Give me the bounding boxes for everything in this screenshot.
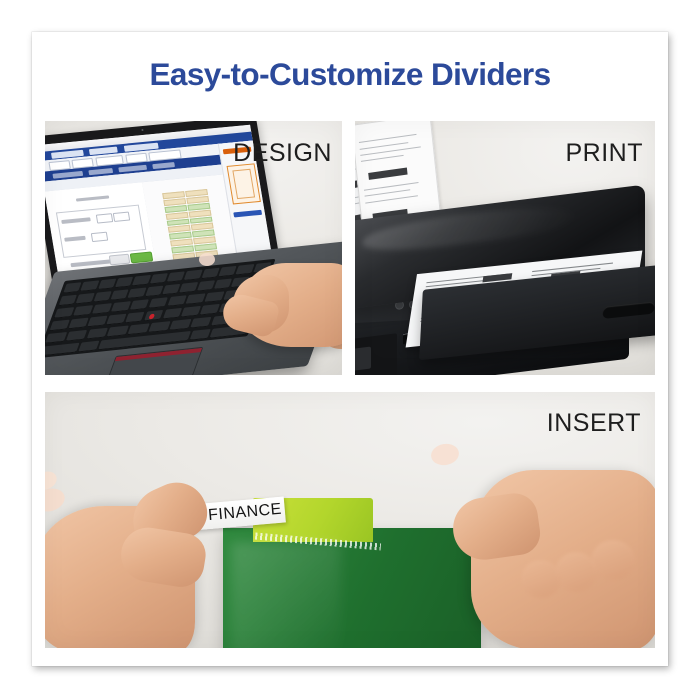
panel-label-insert: INSERT <box>547 409 641 438</box>
nav-item[interactable] <box>88 168 112 175</box>
rail-chip-blue[interactable] <box>233 210 261 218</box>
panel-heading-placeholder <box>75 195 109 201</box>
laptop-touchpad[interactable] <box>105 347 203 375</box>
touchpad-button-bar[interactable] <box>115 348 202 361</box>
rail-thumbnail-inner <box>232 169 255 199</box>
panel-label-design: DESIGN <box>233 139 332 168</box>
panel-insert: FINANCE INSERT <box>45 392 655 648</box>
form-input[interactable] <box>96 213 113 223</box>
fingernail <box>199 253 215 266</box>
tray-handle[interactable] <box>602 301 655 319</box>
product-card: Easy-to-Customize Dividers <box>32 32 668 666</box>
panel-design: DESIGN <box>45 121 342 375</box>
form-input[interactable] <box>91 232 108 242</box>
left-hand-thumb-nail <box>45 485 68 515</box>
nav-item[interactable] <box>152 162 174 169</box>
panel-label-print: PRINT <box>566 139 644 168</box>
nav-item[interactable] <box>52 170 83 178</box>
right-hand-knuckle <box>521 560 561 598</box>
right-hand-knuckle <box>555 552 597 592</box>
panel-print: PRINT <box>355 121 655 375</box>
page-title: Easy-to-Customize Dividers <box>32 56 668 93</box>
hand-on-keyboard <box>199 253 342 365</box>
rail-thumbnail-selected[interactable] <box>226 163 260 205</box>
printer-illustration <box>355 141 655 375</box>
printer-side-panel <box>355 333 397 375</box>
right-hand-thumb-nail <box>429 442 460 468</box>
form-input[interactable] <box>113 212 130 222</box>
right-hand-knuckle <box>591 540 635 580</box>
webcam-icon <box>141 129 143 131</box>
label-sheet-grid <box>162 189 218 260</box>
printer-card-slot <box>355 347 371 372</box>
divider-highlight <box>231 542 341 648</box>
hand-left <box>45 472 245 648</box>
nav-item[interactable] <box>118 164 147 172</box>
hand-right <box>431 444 655 648</box>
